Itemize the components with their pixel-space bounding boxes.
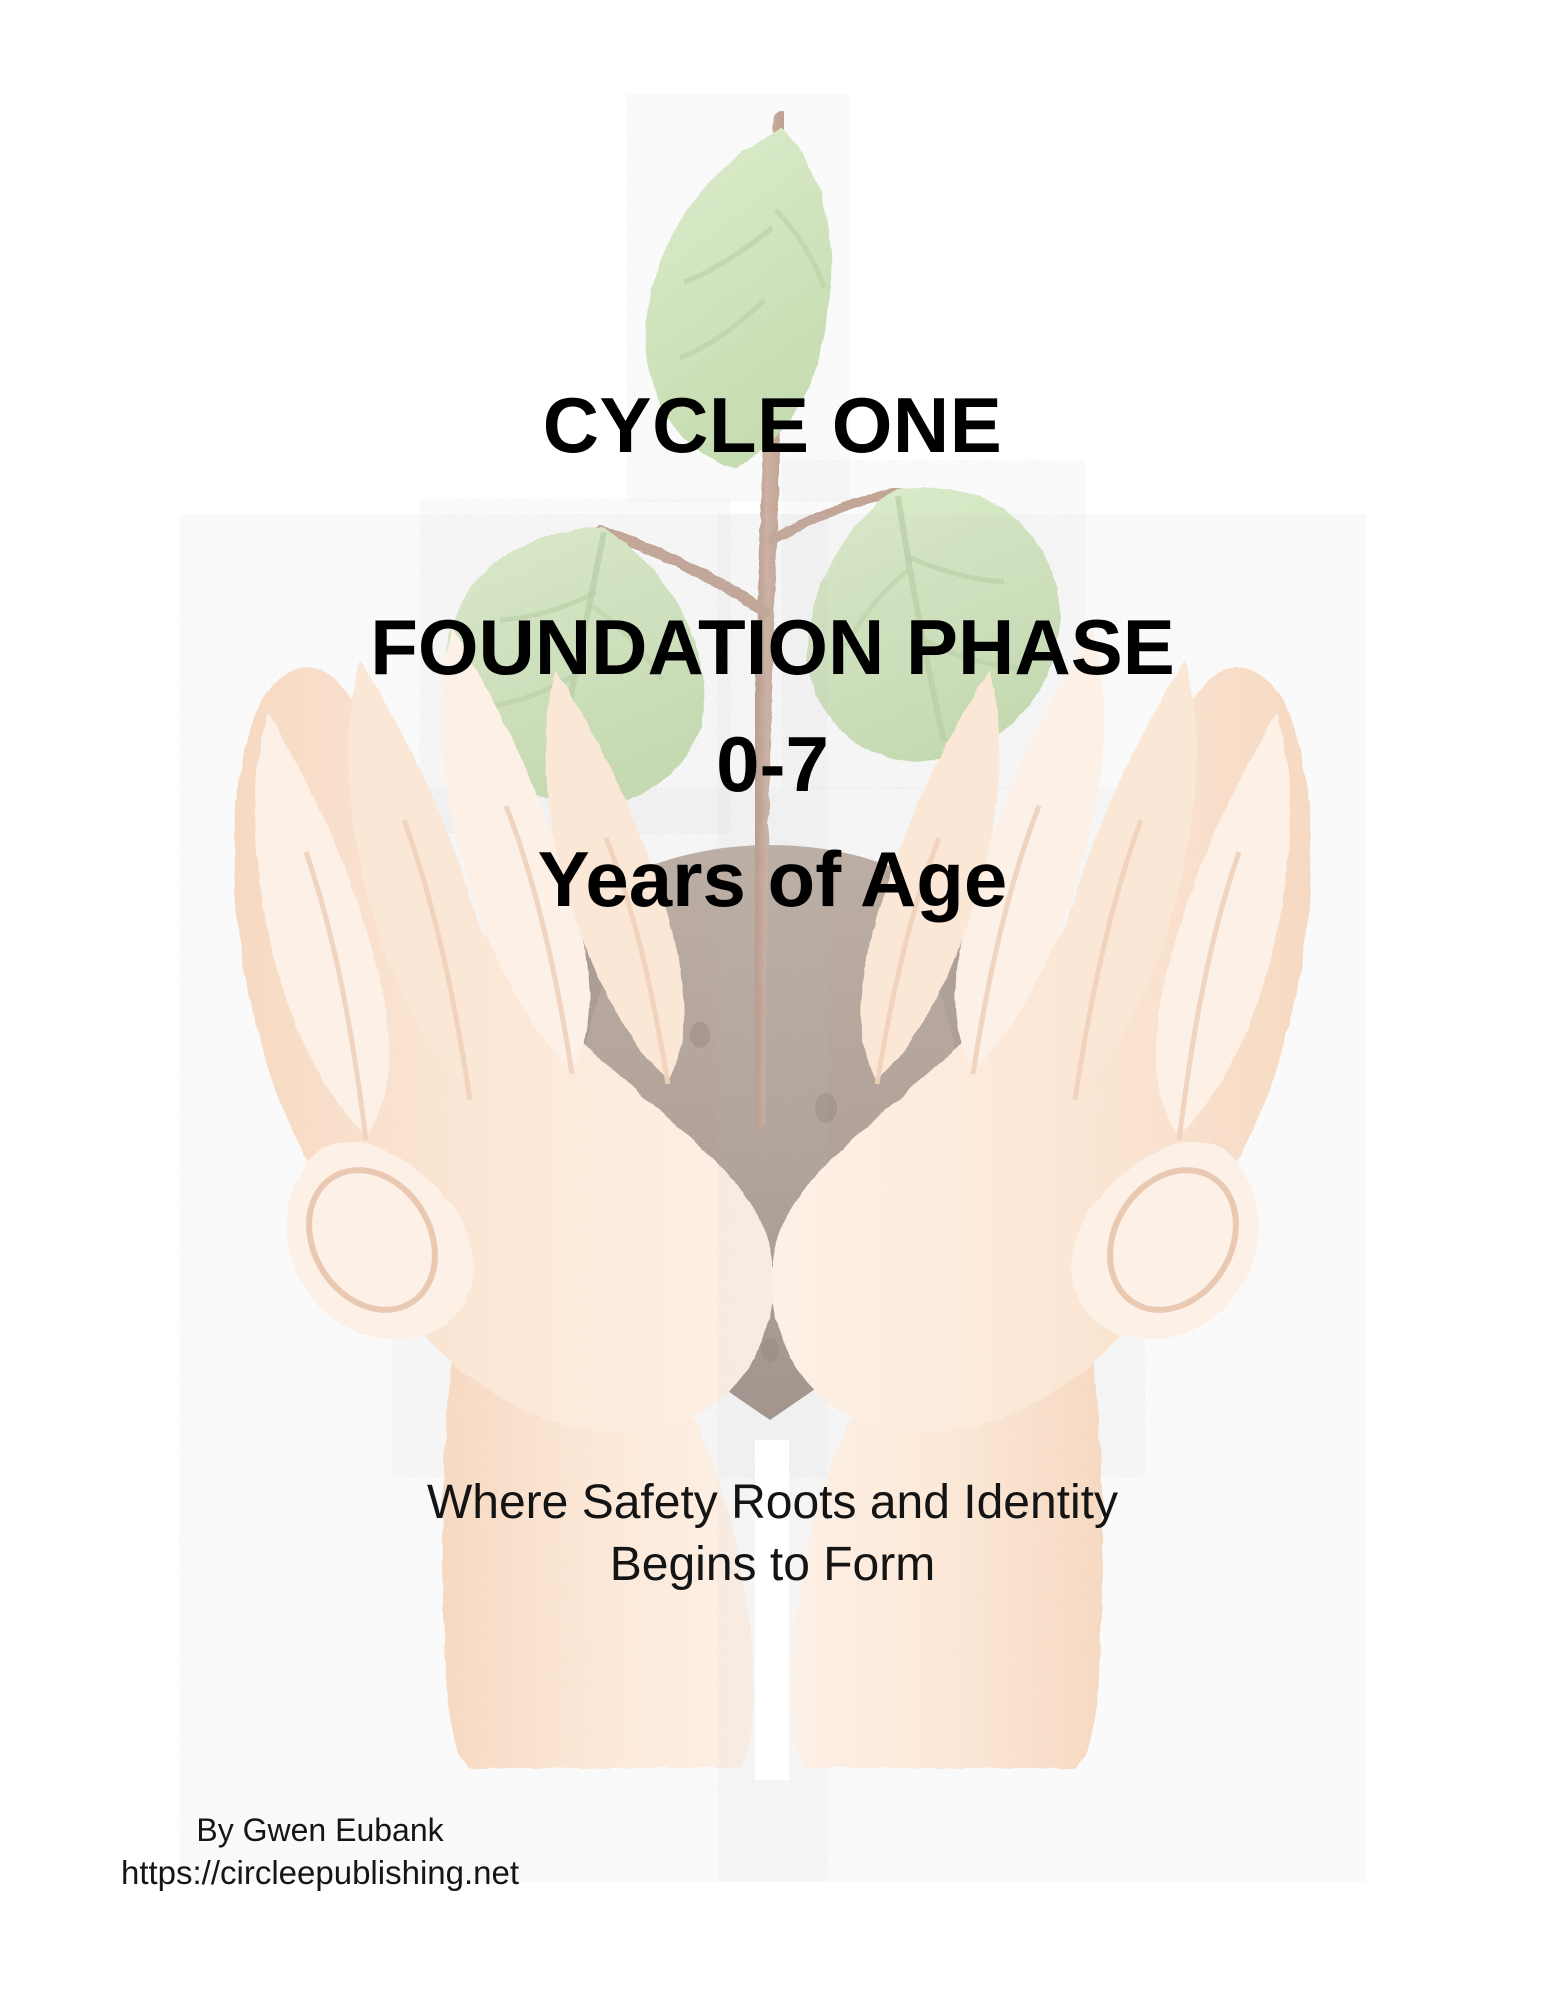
title-block: CYCLE ONE — [0, 386, 1545, 464]
footer-url[interactable]: https://circleepublishing.net — [0, 1852, 640, 1895]
book-cover: CYCLE ONE FOUNDATION PHASE 0-7 Years of … — [0, 0, 1545, 2000]
cover-footer: By Gwen Eubank https://circleepublishing… — [0, 1810, 640, 1894]
title-age-range: 0-7 — [0, 725, 1545, 803]
cover-text-layer: CYCLE ONE FOUNDATION PHASE 0-7 Years of … — [0, 0, 1545, 2000]
subtitle-line-1: Where Safety Roots and Identity — [0, 1472, 1545, 1534]
subtitle-line-2: Begins to Form — [0, 1534, 1545, 1596]
cover-subtitle: Where Safety Roots and Identity Begins t… — [0, 1472, 1545, 1597]
title-phase: FOUNDATION PHASE — [0, 608, 1545, 686]
footer-author: By Gwen Eubank — [0, 1810, 640, 1852]
title-cycle: CYCLE ONE — [0, 386, 1545, 464]
title-age-words: Years of Age — [0, 840, 1545, 918]
